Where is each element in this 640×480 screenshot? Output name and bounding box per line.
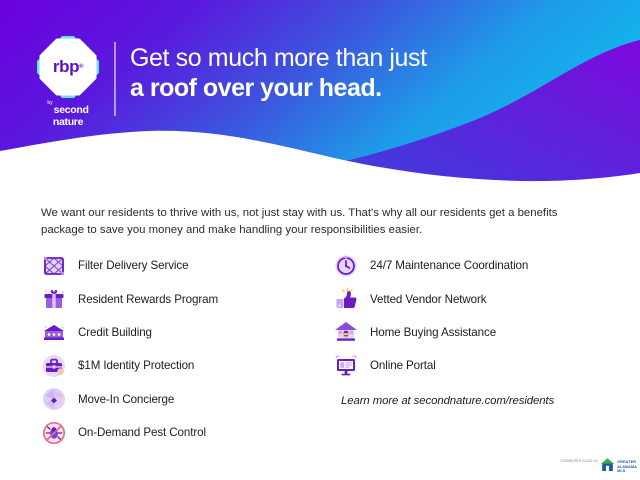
monitor-icon: [333, 353, 359, 379]
benefit-move-in-concierge: Move-In Concierge: [41, 383, 331, 416]
benefit-resident-rewards-program: Resident Rewards Program: [41, 282, 331, 315]
benefit-maintenance-coordination: 24/7 Maintenance Coordination: [333, 249, 633, 282]
benefit-home-buying-assistance: Home Buying Assistance: [333, 316, 633, 349]
benefit-label: Resident Rewards Program: [78, 293, 218, 306]
benefit-online-portal: Online Portal: [333, 349, 633, 382]
rbp-wordmark: rbp®: [37, 36, 99, 98]
hero-banner: rbp® bysecond nature Get so much more th…: [0, 0, 640, 190]
clock-icon: [333, 253, 359, 279]
mls-line-1: GREATER: [617, 460, 636, 464]
benefit-label: Credit Building: [78, 326, 152, 339]
greater-alabama-mls-logo: GREATER ALABAMA MLS: [600, 457, 637, 477]
benefit-label: Vetted Vendor Network: [370, 293, 487, 306]
headline-line-2: a roof over your head.: [130, 74, 427, 104]
benefit-on-demand-pest-control: On-Demand Pest Control: [41, 416, 331, 449]
benefit-identity-protection: $1M Identity Protection: [41, 349, 331, 382]
house-icon: [333, 319, 359, 345]
intro-paragraph: We want our residents to thrive with us,…: [41, 205, 593, 238]
bank-building-icon: [41, 319, 67, 345]
learn-more-text[interactable]: Learn more at secondnature.com/residents: [341, 395, 633, 407]
benefit-label: Online Portal: [370, 359, 436, 372]
concierge-diamond-icon: [41, 386, 67, 412]
benefit-filter-delivery-service: Filter Delivery Service: [41, 249, 331, 282]
thumbs-up-icon: [333, 286, 359, 312]
gift-box-icon: [41, 286, 67, 312]
by-label: by: [47, 100, 52, 106]
mls-line-3: MLS: [617, 469, 625, 473]
benefit-label: Move-In Concierge: [78, 393, 174, 406]
briefcase-shield-icon: [41, 353, 67, 379]
rbp-logo-badge: rbp®: [37, 36, 99, 98]
mls-house-icon: [600, 457, 615, 477]
mls-wordmark: GREATER ALABAMA MLS: [617, 460, 637, 474]
rbp-logo: rbp® bysecond nature: [28, 36, 108, 120]
benefits-column-left: Filter Delivery Service Resident Rewards…: [41, 249, 331, 449]
benefit-label: $1M Identity Protection: [78, 359, 194, 372]
no-pest-icon: [41, 420, 67, 446]
benefit-label: 24/7 Maintenance Coordination: [370, 259, 528, 272]
air-filter-icon: [41, 253, 67, 279]
mls-line-2: ALABAMA: [617, 465, 637, 469]
second-nature-wordmark: bysecond nature: [28, 101, 108, 128]
headline-line-1: Get so much more than just: [130, 44, 427, 74]
rbp-text: rbp: [53, 57, 79, 77]
document-code: CS008-RES 02/24 V1: [560, 459, 598, 463]
benefit-credit-building: Credit Building: [41, 316, 331, 349]
benefit-vetted-vendor-network: Vetted Vendor Network: [333, 282, 633, 315]
hero-headline: Get so much more than just a roof over y…: [130, 44, 427, 103]
brand-line-2: nature: [28, 117, 108, 128]
benefit-label: On-Demand Pest Control: [78, 426, 206, 439]
logo-divider: [114, 42, 116, 116]
benefit-label: Home Buying Assistance: [370, 326, 496, 339]
benefit-label: Filter Delivery Service: [78, 259, 188, 272]
benefits-column-right: 24/7 Maintenance Coordination Vetted Ven…: [333, 249, 633, 407]
brand-line-1: second: [54, 104, 89, 116]
